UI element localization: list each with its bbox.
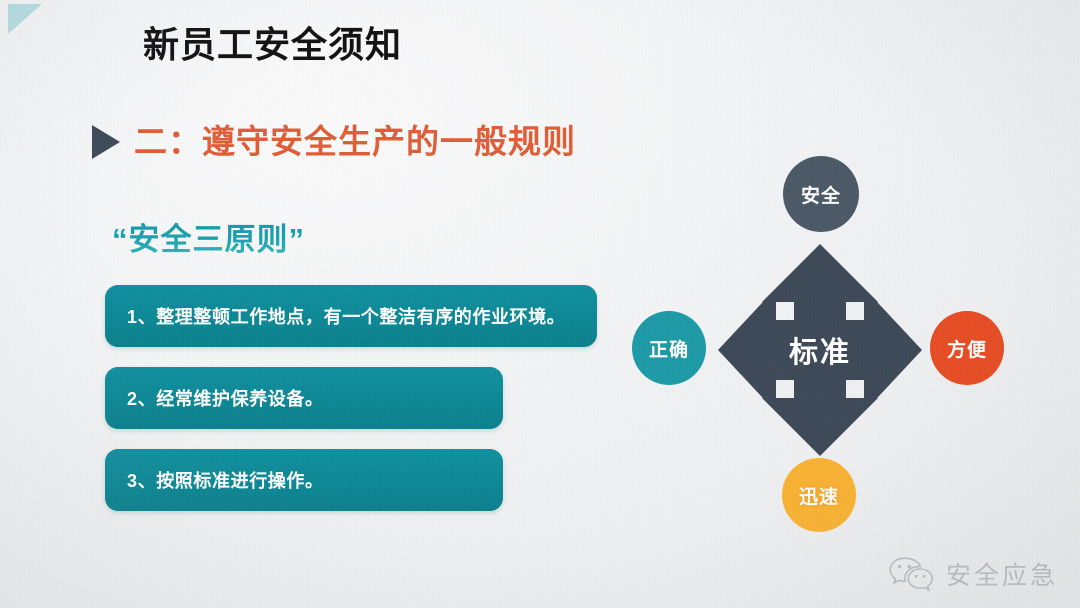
diagram-node-right-label: 方便 (947, 335, 987, 362)
diagram-node-left: 正确 (632, 311, 706, 385)
watermark-label: 安全应急 (946, 556, 1058, 592)
slide-canvas: 新员工安全须知 二：遵守安全生产的一般规则 “安全三原则” 1、整理整顿工作地点… (0, 0, 1080, 608)
rule-list: 1、整理整顿工作地点，有一个整洁有序的作业环境。 2、经常维护保养设备。 3、按… (105, 285, 597, 531)
diagram-node-right: 方便 (930, 311, 1004, 385)
list-item: 2、经常维护保养设备。 (105, 367, 503, 429)
diagram-node-bottom-label: 迅速 (799, 482, 839, 509)
four-way-diagram: 标准 安全 正确 方便 迅速 (612, 150, 1032, 540)
watermark: 安全应急 (888, 556, 1058, 592)
diagram-node-left-label: 正确 (649, 335, 689, 362)
section-heading-label: 二：遵守安全生产的一般规则 (134, 122, 576, 162)
page-title: 新员工安全须知 (143, 22, 402, 67)
wechat-icon (888, 556, 934, 592)
list-item: 3、按照标准进行操作。 (105, 449, 503, 511)
four-way-arrow-icon (710, 244, 930, 456)
corner-wedge-icon (8, 4, 48, 38)
section-heading: 二：遵守安全生产的一般规则 (92, 122, 576, 162)
list-item: 1、整理整顿工作地点，有一个整洁有序的作业环境。 (105, 285, 597, 347)
principle-heading: “安全三原则” (112, 214, 305, 259)
diagram-node-top-label: 安全 (801, 181, 841, 208)
triangle-right-icon (92, 125, 120, 159)
diagram-node-bottom: 迅速 (782, 458, 856, 532)
diagram-node-top: 安全 (783, 156, 859, 232)
